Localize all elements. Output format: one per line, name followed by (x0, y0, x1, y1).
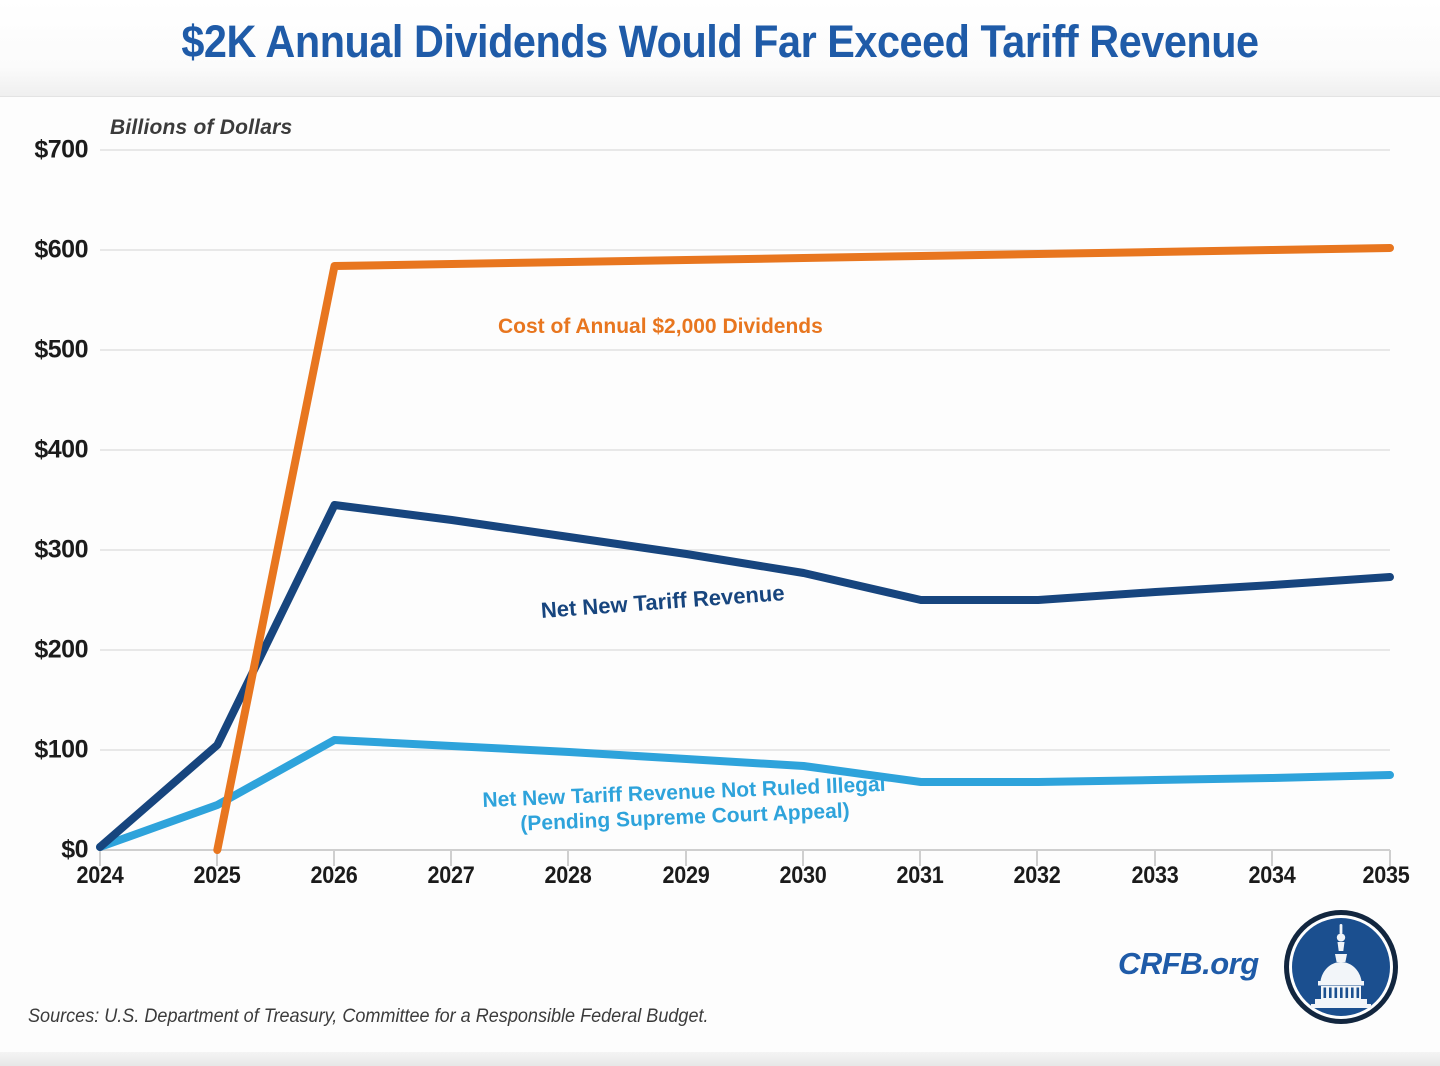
x-tick-2032: 2032 (1014, 862, 1061, 890)
x-tick-2024: 2024 (77, 862, 124, 890)
x-tick-2025: 2025 (194, 862, 241, 890)
x-axis-ticks (100, 850, 1390, 866)
x-tick-2035: 2035 (1363, 862, 1410, 890)
page-title: $2K Annual Dividends Would Far Exceed Ta… (58, 16, 1383, 68)
crfb-capitol-dome-logo (1282, 908, 1400, 1026)
x-tick-2031: 2031 (897, 862, 944, 890)
x-tick-2033: 2033 (1132, 862, 1179, 890)
x-tick-2030: 2030 (780, 862, 827, 890)
x-tick-2034: 2034 (1249, 862, 1296, 890)
x-tick-2029: 2029 (663, 862, 710, 890)
sources-note: Sources: U.S. Department of Treasury, Co… (28, 1006, 709, 1028)
bottom-edge (0, 1052, 1440, 1066)
chart-canvas: $2K Annual Dividends Would Far Exceed Ta… (0, 0, 1440, 1066)
series-annotation-dividends-cost: Cost of Annual $2,000 Dividends (498, 315, 823, 339)
crfb-wordmark: CRFB.org (1118, 946, 1259, 982)
plot-area: Billions of Dollars $700 $600 $500 $400 … (0, 96, 1440, 896)
x-tick-2026: 2026 (311, 862, 358, 890)
x-tick-2028: 2028 (545, 862, 592, 890)
x-tick-2027: 2027 (428, 862, 475, 890)
line-chart-svg (0, 96, 1440, 896)
